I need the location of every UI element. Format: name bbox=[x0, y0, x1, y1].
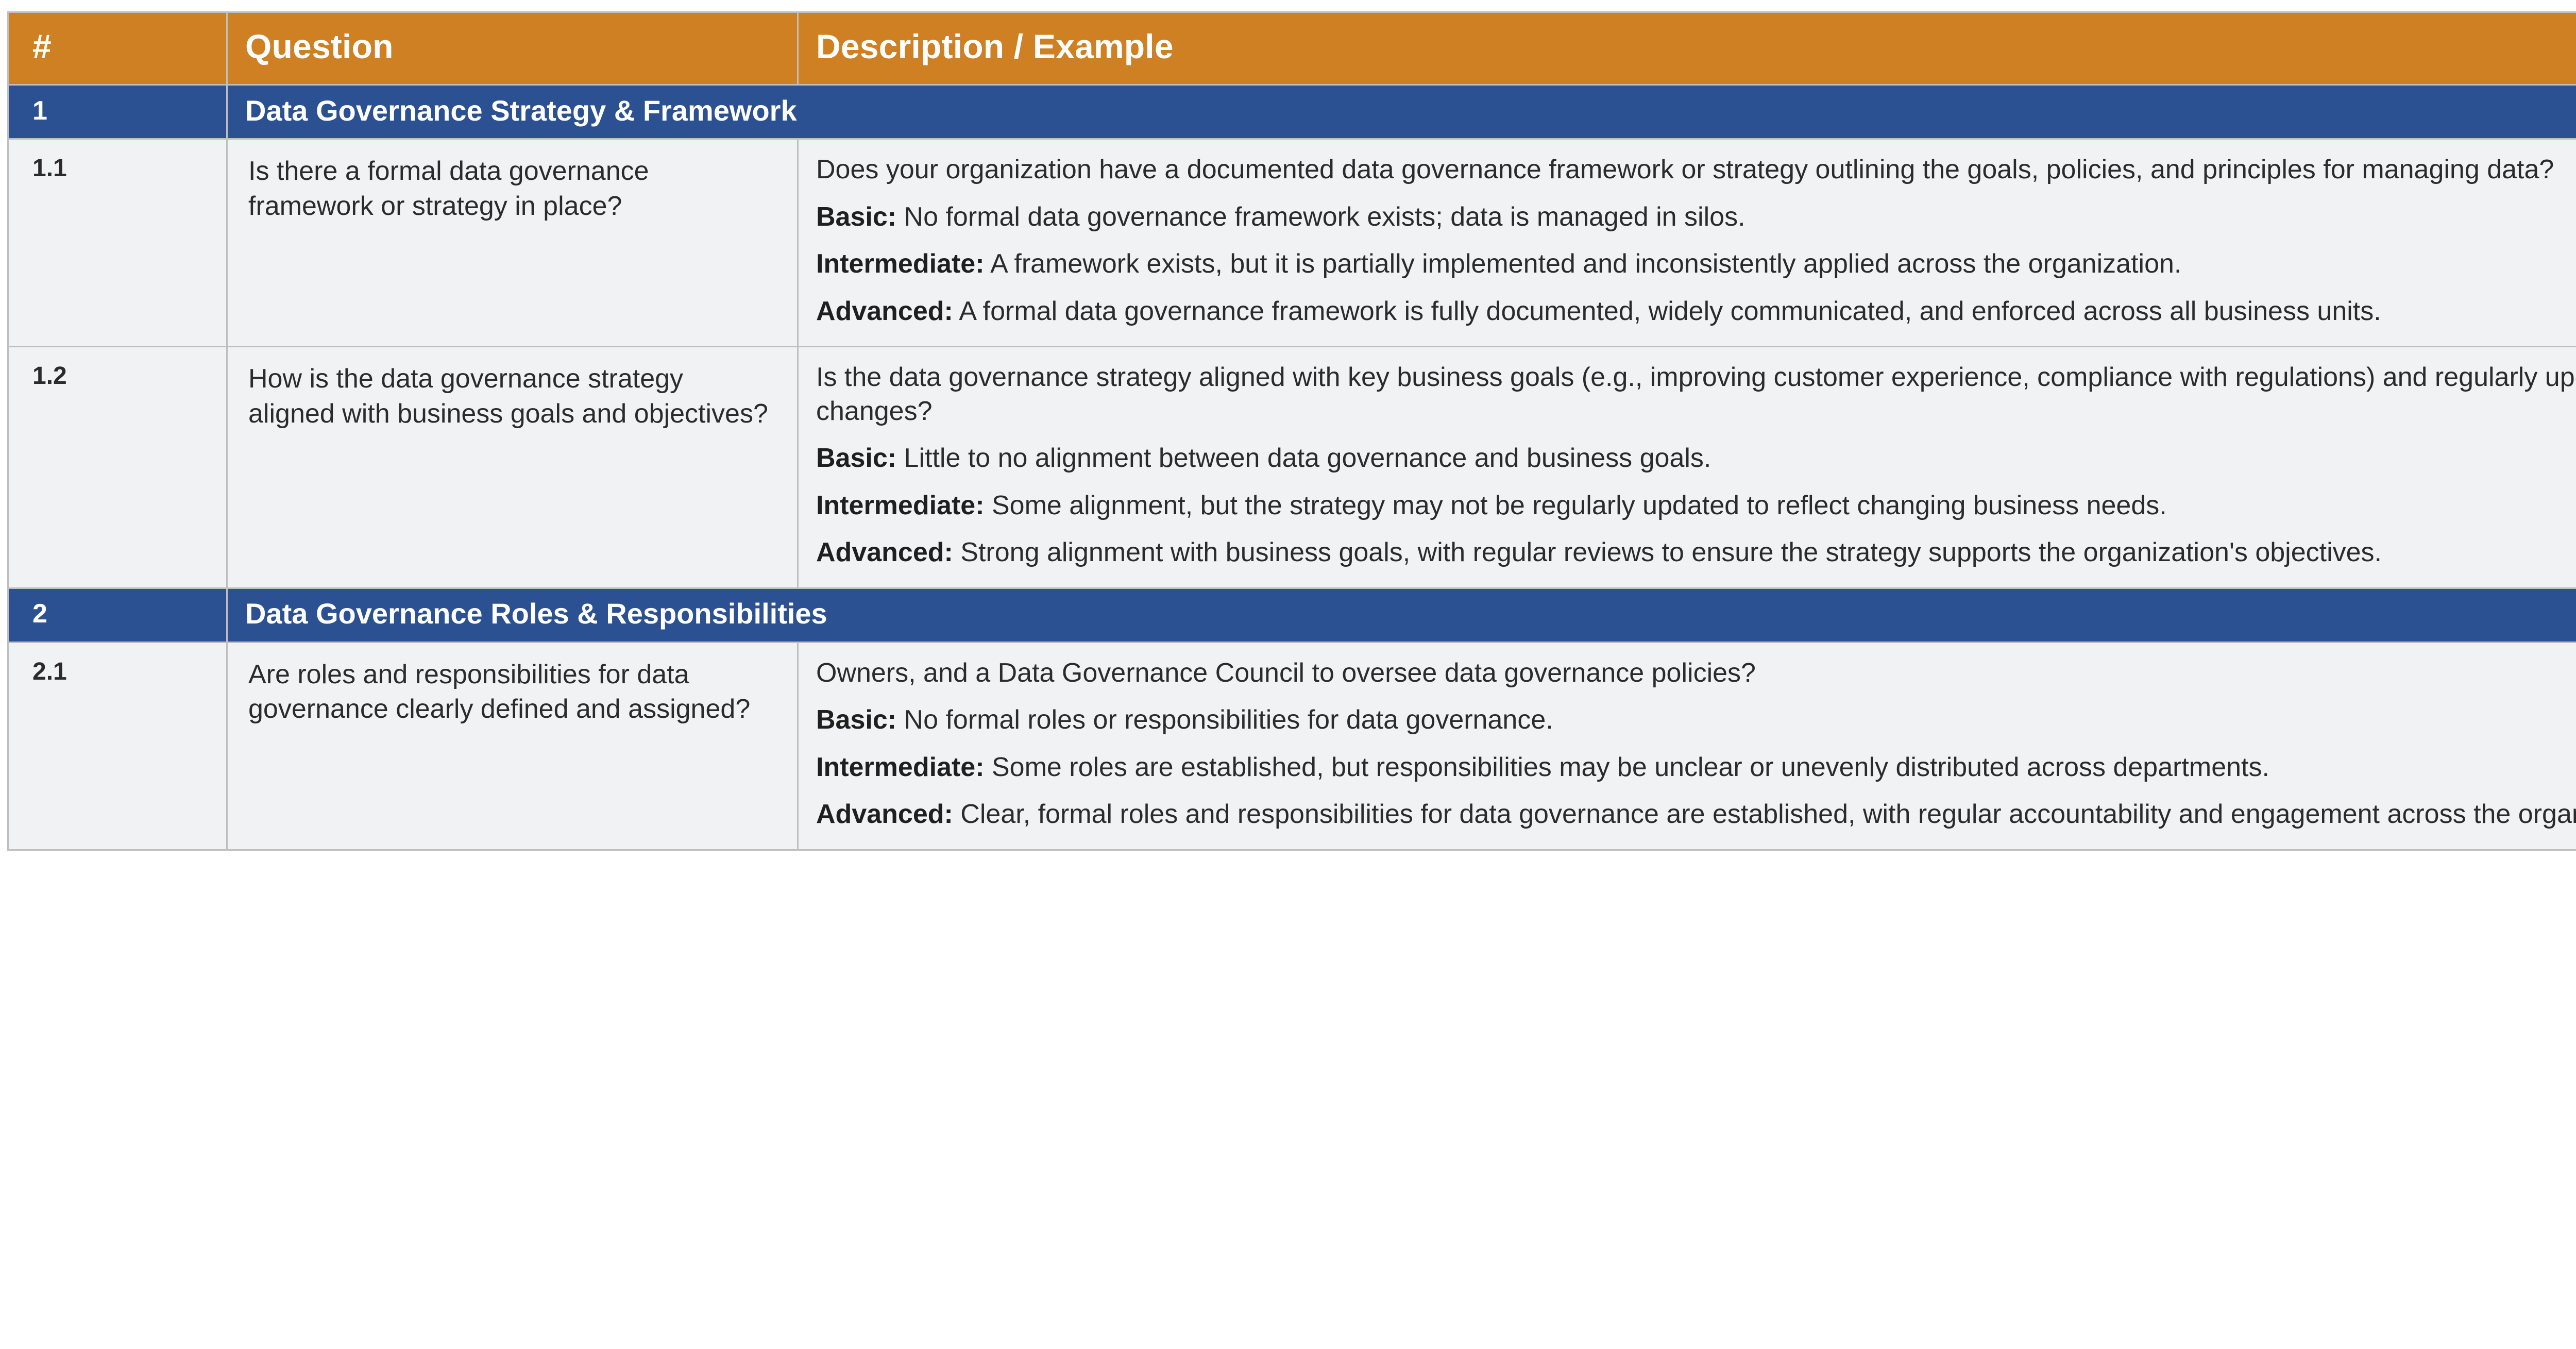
level-label: Advanced: bbox=[816, 296, 953, 326]
row-number: 1.1 bbox=[8, 139, 227, 347]
table-header: # Question Description / Example bbox=[8, 12, 2576, 85]
level-text: No formal data governance framework exis… bbox=[896, 202, 1745, 232]
row-description: Is the data governance strategy aligned … bbox=[798, 347, 2576, 588]
maturity-level-intermediate: Intermediate: A framework exists, but it… bbox=[816, 247, 2576, 281]
level-label: Basic: bbox=[816, 202, 896, 232]
level-label: Basic: bbox=[816, 705, 896, 735]
assessment-sheet: # Question Description / Example 1 Data … bbox=[0, 0, 2576, 1349]
level-text: Little to no alignment between data gove… bbox=[896, 443, 1711, 473]
table-row: 1.1 Is there a formal data governance fr… bbox=[8, 139, 2576, 347]
maturity-level-advanced: Advanced: Strong alignment with business… bbox=[816, 536, 2576, 570]
maturity-level-basic: Basic: Little to no alignment between da… bbox=[816, 442, 2576, 476]
maturity-level-intermediate: Intermediate: Some roles are established… bbox=[816, 751, 2576, 785]
table-row: 2.1 Are roles and responsibilities for d… bbox=[8, 642, 2576, 850]
maturity-level-advanced: Advanced: Clear, formal roles and respon… bbox=[816, 798, 2576, 832]
level-text: Clear, formal roles and responsibilities… bbox=[953, 799, 2576, 829]
row-question: How is the data governance strategy alig… bbox=[227, 347, 798, 588]
level-text: Strong alignment with business goals, wi… bbox=[953, 537, 2382, 567]
level-text: Some roles are established, but responsi… bbox=[985, 752, 2269, 782]
column-header-description: Description / Example bbox=[798, 12, 2576, 85]
table-body: 1 Data Governance Strategy & Framework 1… bbox=[8, 85, 2576, 850]
header-row: # Question Description / Example bbox=[8, 12, 2576, 85]
section-number: 2 bbox=[8, 588, 227, 642]
level-label: Intermediate: bbox=[816, 249, 985, 279]
section-number: 1 bbox=[8, 85, 227, 139]
level-label: Basic: bbox=[816, 443, 896, 473]
assessment-table: # Question Description / Example 1 Data … bbox=[7, 11, 2576, 851]
maturity-level-intermediate: Intermediate: Some alignment, but the st… bbox=[816, 489, 2576, 523]
level-label: Advanced: bbox=[816, 537, 953, 567]
row-number: 1.2 bbox=[8, 347, 227, 588]
description-intro: Does your organization have a documented… bbox=[816, 153, 2576, 187]
row-number: 2.1 bbox=[8, 642, 227, 850]
column-header-number: # bbox=[8, 12, 227, 85]
column-header-question: Question bbox=[227, 12, 798, 85]
section-title: Data Governance Roles & Responsibilities bbox=[227, 588, 2576, 642]
maturity-level-basic: Basic: No formal roles or responsibiliti… bbox=[816, 703, 2576, 737]
level-text: A formal data governance framework is fu… bbox=[953, 296, 2381, 326]
maturity-level-basic: Basic: No formal data governance framewo… bbox=[816, 200, 2576, 234]
maturity-level-advanced: Advanced: A formal data governance frame… bbox=[816, 295, 2576, 329]
description-intro: Owners, and a Data Governance Council to… bbox=[816, 656, 2576, 690]
level-text: Some alignment, but the strategy may not… bbox=[985, 491, 2167, 520]
level-label: Advanced: bbox=[816, 799, 953, 829]
row-description: Owners, and a Data Governance Council to… bbox=[798, 642, 2576, 850]
row-description: Does your organization have a documented… bbox=[798, 139, 2576, 347]
level-label: Intermediate: bbox=[816, 491, 985, 520]
description-intro: Is the data governance strategy aligned … bbox=[816, 361, 2576, 428]
level-label: Intermediate: bbox=[816, 752, 985, 782]
row-question: Is there a formal data governance framew… bbox=[227, 139, 798, 347]
level-text: No formal roles or responsibilities for … bbox=[896, 705, 1553, 735]
level-text: A framework exists, but it is partially … bbox=[985, 249, 2182, 279]
section-header-row: 2 Data Governance Roles & Responsibiliti… bbox=[8, 588, 2576, 642]
table-row: 1.2 How is the data governance strategy … bbox=[8, 347, 2576, 588]
row-question: Are roles and responsibilities for data … bbox=[227, 642, 798, 850]
section-header-row: 1 Data Governance Strategy & Framework bbox=[8, 85, 2576, 139]
section-title: Data Governance Strategy & Framework bbox=[227, 85, 2576, 139]
